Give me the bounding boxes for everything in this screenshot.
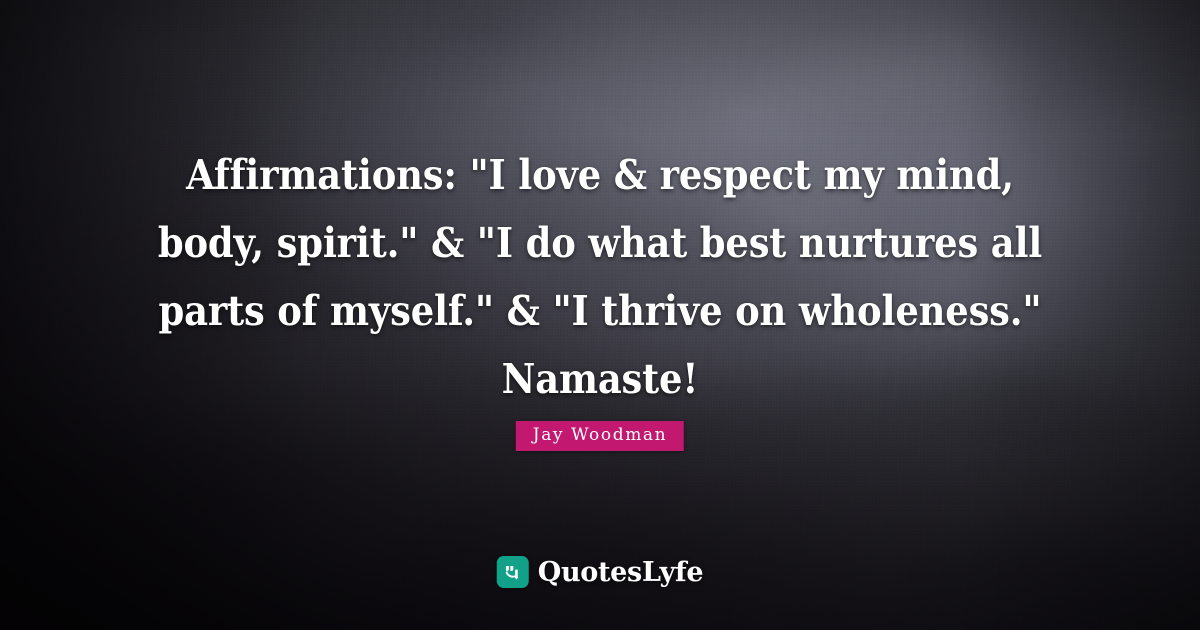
card-content: Affirmations: "I love & respect my mind,… (0, 0, 1200, 630)
site-logo[interactable]: QuotesLyfe (497, 556, 704, 588)
author-badge[interactable]: Jay Woodman (516, 421, 684, 451)
author-name: Jay Woodman (533, 425, 667, 445)
quote-mark-icon (497, 556, 529, 588)
quote-card: Affirmations: "I love & respect my mind,… (0, 0, 1200, 630)
site-name: QuotesLyfe (538, 557, 704, 588)
quote-text: Affirmations: "I love & respect my mind,… (150, 141, 1050, 413)
